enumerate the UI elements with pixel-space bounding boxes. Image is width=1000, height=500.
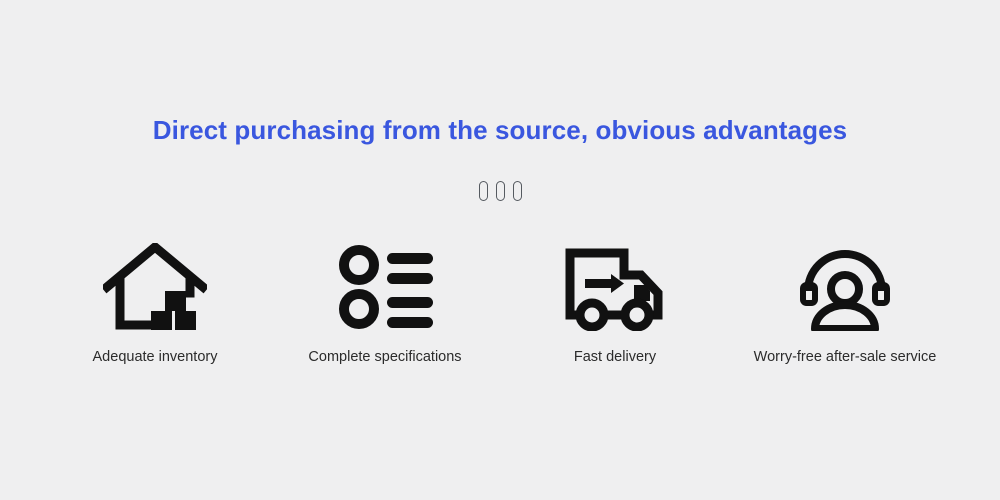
feature-item-delivery: Fast delivery	[500, 243, 730, 367]
pill-divider-dot-1	[479, 181, 488, 201]
feature-label-delivery: Fast delivery	[574, 347, 656, 367]
feature-list: Adequate inventory Complete specific	[40, 243, 960, 367]
feature-label-inventory: Adequate inventory	[93, 347, 218, 367]
delivery-truck-icon	[561, 243, 669, 331]
promo-banner: Direct purchasing from the source, obvio…	[0, 0, 1000, 500]
warehouse-house-boxes-icon	[103, 243, 207, 331]
pill-divider-dot-2	[496, 181, 505, 201]
feature-item-specifications: Complete specifications	[270, 243, 500, 367]
feature-label-specifications: Complete specifications	[308, 347, 461, 367]
feature-item-after-sale-service: Worry-free after-sale service	[730, 243, 960, 367]
page-title: Direct purchasing from the source, obvio…	[0, 113, 1000, 147]
specification-list-icon	[333, 243, 437, 331]
pill-divider-dot-3	[513, 181, 522, 201]
feature-label-after-sale-service: Worry-free after-sale service	[754, 347, 937, 367]
feature-item-inventory: Adequate inventory	[40, 243, 270, 367]
pill-divider	[0, 180, 1000, 202]
headset-support-person-icon	[793, 243, 897, 331]
